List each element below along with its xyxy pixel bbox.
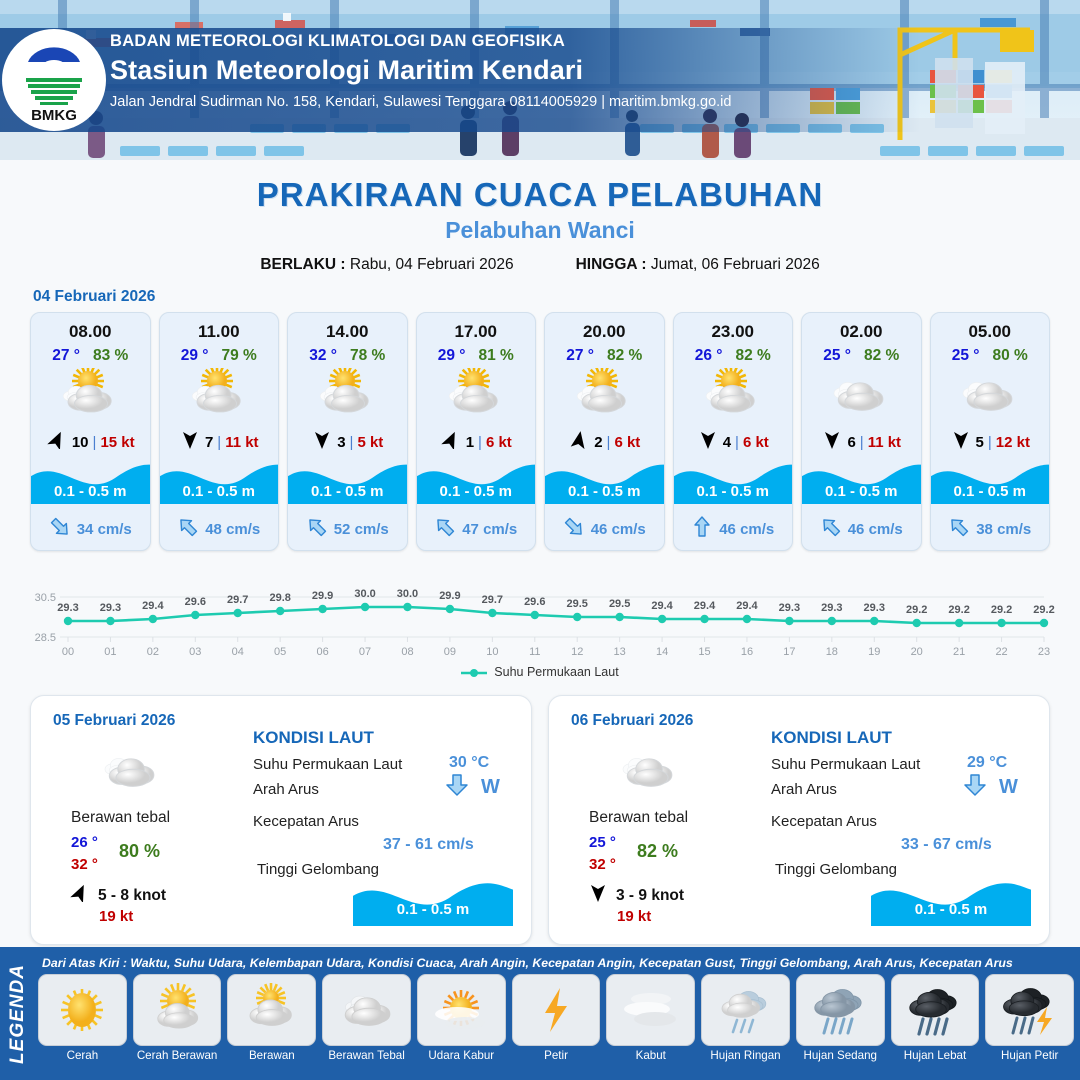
- daily-weather-icon: [611, 744, 689, 805]
- current-direction-value: W: [999, 776, 1018, 799]
- legend-side-tab: LEGENDA: [0, 947, 36, 1080]
- hourly-card: 08.00 27 ° 83 % 10 | 15 kt 0.1 - 0.5 m: [30, 312, 151, 551]
- card-weather-icon: [931, 367, 1050, 425]
- valid-until-value: Jumat, 06 Februari 2026: [651, 256, 820, 273]
- svg-text:10: 10: [486, 646, 498, 658]
- svg-text:29.6: 29.6: [524, 596, 545, 608]
- wind-direction-arrow-icon: [69, 884, 91, 907]
- hourly-card: 02.00 25 ° 82 % 6 | 11 kt 0.1 - 0.5 m: [801, 312, 922, 551]
- moderate-rain-icon: [796, 974, 885, 1046]
- svg-text:29.4: 29.4: [694, 600, 716, 612]
- svg-text:02: 02: [147, 646, 159, 658]
- bmkg-logo: BMKG: [2, 29, 106, 131]
- cloud-icon: [322, 974, 411, 1046]
- legend-item-label: Petir: [512, 1049, 601, 1062]
- current-direction-value: W: [481, 776, 500, 799]
- card-wind-direction: 10: [72, 434, 89, 451]
- current-direction-label: Arah Arus: [771, 781, 837, 798]
- daily-wave-height: 0.1 - 0.5 m: [871, 874, 1031, 926]
- daily-temp-min: 26 °: [71, 834, 98, 851]
- card-weather-icon: [160, 367, 279, 425]
- current-speed-value: 37 - 61 cm/s: [383, 836, 474, 854]
- card-wind-speed: 11 kt: [225, 434, 258, 451]
- card-current-speed: 38 cm/s: [976, 521, 1031, 538]
- wind-direction-arrow-icon: [568, 431, 590, 453]
- legend-item: Hujan Sedang: [796, 974, 885, 1062]
- svg-text:29.2: 29.2: [948, 604, 969, 616]
- svg-text:08: 08: [401, 646, 413, 658]
- sun-cloud-icon: [133, 974, 222, 1046]
- daily-humidity: 82 %: [637, 841, 678, 862]
- daily-condition: Berawan tebal: [71, 809, 170, 827]
- svg-text:29.3: 29.3: [779, 602, 800, 614]
- svg-text:04: 04: [232, 646, 244, 658]
- card-weather-icon: [802, 367, 921, 425]
- card-time: 11.00: [160, 313, 279, 342]
- legend-item-label: Udara Kabur: [417, 1049, 506, 1062]
- svg-text:14: 14: [656, 646, 668, 658]
- svg-text:00: 00: [62, 646, 74, 658]
- legend-item: Kabut: [606, 974, 695, 1062]
- card-temperature: 29 °: [181, 347, 209, 365]
- daily-forecast-card: 06 Februari 2026 Berawan tebal 25 ° 32 °…: [548, 695, 1050, 945]
- legend-item-label: Cerah: [38, 1049, 127, 1062]
- svg-text:28.5: 28.5: [35, 632, 56, 644]
- svg-text:29.2: 29.2: [1033, 604, 1054, 616]
- svg-text:19: 19: [868, 646, 880, 658]
- daily-gust: 19 kt: [99, 908, 133, 925]
- card-wind-speed: 5 kt: [357, 434, 383, 451]
- card-humidity: 82 %: [607, 347, 642, 365]
- current-direction-arrow-icon: [306, 516, 328, 542]
- svg-text:03: 03: [189, 646, 201, 658]
- fog-icon: [606, 974, 695, 1046]
- hourly-card: 14.00 32 ° 78 % 3 | 5 kt 0.1 - 0.5 m: [287, 312, 408, 551]
- svg-text:05: 05: [274, 646, 286, 658]
- daily-humidity: 80 %: [119, 841, 160, 862]
- legend-item: Cerah: [38, 974, 127, 1062]
- svg-text:29.2: 29.2: [906, 604, 927, 616]
- daily-forecast-row: 05 Februari 2026 Berawan tebal 26 ° 32 °…: [0, 685, 1080, 945]
- card-wave-height: 0.1 - 0.5 m: [802, 483, 921, 504]
- svg-text:29.4: 29.4: [651, 600, 673, 612]
- legend-item: Berawan Tebal: [322, 974, 411, 1062]
- card-wind-speed: 12 kt: [996, 434, 1030, 451]
- card-time: 14.00: [288, 313, 407, 342]
- current-speed-value: 33 - 67 cm/s: [901, 836, 992, 854]
- card-wind-direction: 7: [205, 434, 213, 451]
- current-direction-arrow-icon: [820, 516, 842, 542]
- legend-items: Cerah Cerah Berawan Berawan: [38, 974, 1074, 1062]
- svg-text:29.5: 29.5: [609, 598, 630, 610]
- legend-item-label: Hujan Petir: [985, 1049, 1074, 1062]
- card-temperature: 25 °: [823, 347, 851, 365]
- svg-text:09: 09: [444, 646, 456, 658]
- hourly-date-label: 04 Februari 2026: [33, 288, 1080, 306]
- cloud-sun-small-icon: [227, 974, 316, 1046]
- card-weather-icon: [545, 367, 664, 425]
- wind-direction-arrow-icon: [950, 431, 972, 453]
- legend-item-label: Berawan: [227, 1049, 316, 1062]
- valid-from-label: BERLAKU :: [260, 256, 345, 273]
- legend-item-label: Hujan Sedang: [796, 1049, 885, 1062]
- wind-direction-arrow-icon: [311, 431, 333, 453]
- current-direction-arrow-icon: [959, 774, 991, 801]
- chart-legend-label: Suhu Permukaan Laut: [494, 665, 618, 679]
- card-temperature: 26 °: [695, 347, 723, 365]
- daily-wind: 5 - 8 knot: [69, 884, 166, 907]
- svg-text:29.4: 29.4: [736, 600, 758, 612]
- svg-text:29.9: 29.9: [439, 590, 460, 602]
- svg-text:29.6: 29.6: [185, 596, 206, 608]
- current-direction-arrow-icon: [441, 774, 473, 801]
- daily-weather-icon: [93, 744, 171, 805]
- wind-separator: |: [607, 434, 611, 451]
- current-direction-arrow-icon: [691, 516, 713, 542]
- hourly-card: 20.00 27 ° 82 % 2 | 6 kt 0.1 - 0.5 m: [544, 312, 665, 551]
- wind-direction-arrow-icon: [587, 884, 609, 907]
- card-time: 17.00: [417, 313, 536, 342]
- legend-item: Hujan Lebat: [891, 974, 980, 1062]
- card-time: 05.00: [931, 313, 1050, 342]
- daily-wave-height: 0.1 - 0.5 m: [353, 874, 513, 926]
- card-time: 02.00: [802, 313, 921, 342]
- sea-conditions-header: KONDISI LAUT: [253, 728, 374, 748]
- legend-item-label: Kabut: [606, 1049, 695, 1062]
- legend-item-label: Berawan Tebal: [322, 1049, 411, 1062]
- card-humidity: 80 %: [992, 347, 1027, 365]
- card-current-speed: 48 cm/s: [205, 521, 260, 538]
- daily-temp-min: 25 °: [589, 834, 616, 851]
- daily-date: 05 Februari 2026: [53, 712, 175, 730]
- svg-text:BMKG: BMKG: [31, 107, 77, 124]
- legend-item: Hujan Ringan: [701, 974, 790, 1062]
- card-current-speed: 46 cm/s: [719, 521, 774, 538]
- svg-text:29.9: 29.9: [312, 590, 333, 602]
- current-direction-value-group: W: [959, 774, 1018, 801]
- card-time: 23.00: [674, 313, 793, 342]
- legend-item-label: Hujan Lebat: [891, 1049, 980, 1062]
- agency-name: BADAN METEOROLOGI KLIMATOLOGI DAN GEOFIS…: [110, 32, 731, 51]
- valid-until-label: HINGGA :: [576, 256, 647, 273]
- svg-text:17: 17: [783, 646, 795, 658]
- wind-separator: |: [735, 434, 739, 451]
- daily-wind: 3 - 9 knot: [587, 884, 684, 907]
- current-direction-arrow-icon: [948, 516, 970, 542]
- hourly-card: 23.00 26 ° 82 % 4 | 6 kt 0.1 - 0.5 m: [673, 312, 794, 551]
- card-temperature: 27 °: [52, 347, 80, 365]
- card-wind-direction: 6: [847, 434, 855, 451]
- card-humidity: 79 %: [221, 347, 256, 365]
- svg-text:29.3: 29.3: [100, 602, 121, 614]
- svg-text:22: 22: [995, 646, 1007, 658]
- wind-separator: |: [860, 434, 864, 451]
- sst-chart: 30.528.500010203040506070809101112131415…: [0, 567, 1080, 685]
- light-rain-icon: [701, 974, 790, 1046]
- legend-note: Dari Atas Kiri : Waktu, Suhu Udara, Kele…: [38, 951, 1074, 974]
- daily-temp-max: 32 °: [589, 856, 616, 873]
- wind-separator: |: [478, 434, 482, 451]
- svg-text:15: 15: [698, 646, 710, 658]
- current-direction-arrow-icon: [563, 516, 585, 542]
- daily-wind-speed: 3 - 9 knot: [616, 887, 684, 905]
- heavy-rain-icon: [891, 974, 980, 1046]
- chart-legend-marker: [461, 667, 487, 677]
- card-weather-icon: [31, 367, 150, 425]
- svg-text:30.5: 30.5: [35, 592, 56, 604]
- card-wind-speed: 6 kt: [743, 434, 769, 451]
- svg-text:29.3: 29.3: [864, 602, 885, 614]
- card-wind-direction: 3: [337, 434, 345, 451]
- card-wind-speed: 6 kt: [614, 434, 640, 451]
- card-temperature: 27 °: [566, 347, 594, 365]
- svg-text:06: 06: [316, 646, 328, 658]
- card-humidity: 83 %: [93, 347, 128, 365]
- station-address: Jalan Jendral Sudirman No. 158, Kendari,…: [110, 94, 731, 110]
- daily-temp-max: 32 °: [71, 856, 98, 873]
- svg-text:29.5: 29.5: [567, 598, 588, 610]
- valid-from-value: Rabu, 04 Februari 2026: [350, 256, 514, 273]
- card-current-speed: 46 cm/s: [848, 521, 903, 538]
- card-current-speed: 47 cm/s: [462, 521, 517, 538]
- legend-item: Udara Kabur: [417, 974, 506, 1062]
- svg-text:29.4: 29.4: [142, 600, 164, 612]
- daily-date: 06 Februari 2026: [571, 712, 693, 730]
- svg-text:29.3: 29.3: [821, 602, 842, 614]
- card-humidity: 82 %: [735, 347, 770, 365]
- wind-direction-arrow-icon: [821, 431, 843, 453]
- svg-text:23: 23: [1038, 646, 1050, 658]
- lightning-icon: [512, 974, 601, 1046]
- daily-wind-speed: 5 - 8 knot: [98, 887, 166, 905]
- hourly-card: 11.00 29 ° 79 % 7 | 11 kt 0.1 - 0.5 m: [159, 312, 280, 551]
- wind-direction-arrow-icon: [179, 431, 201, 453]
- current-speed-label: Kecepatan Arus: [253, 813, 359, 830]
- daily-condition: Berawan tebal: [589, 809, 688, 827]
- card-current-speed: 46 cm/s: [591, 521, 646, 538]
- card-wave-height: 0.1 - 0.5 m: [545, 483, 664, 504]
- legend-item: Berawan: [227, 974, 316, 1062]
- sst-label: Suhu Permukaan Laut: [253, 756, 402, 773]
- svg-text:07: 07: [359, 646, 371, 658]
- legend-item-label: Cerah Berawan: [133, 1049, 222, 1062]
- legend-item-label: Hujan Ringan: [701, 1049, 790, 1062]
- wind-separator: |: [217, 434, 221, 451]
- hourly-forecast-list: 08.00 27 ° 83 % 10 | 15 kt 0.1 - 0.5 m: [0, 312, 1080, 551]
- sst-value: 29 °C: [967, 754, 1007, 772]
- wind-direction-arrow-icon: [697, 431, 719, 453]
- card-temperature: 25 °: [952, 347, 980, 365]
- validity-row: BERLAKU : Rabu, 04 Februari 2026 HINGGA …: [0, 256, 1080, 274]
- wind-separator: |: [93, 434, 97, 451]
- svg-text:12: 12: [571, 646, 583, 658]
- card-weather-icon: [417, 367, 536, 425]
- svg-text:29.3: 29.3: [57, 602, 78, 614]
- current-speed-label: Kecepatan Arus: [771, 813, 877, 830]
- card-wind-speed: 15 kt: [100, 434, 134, 451]
- legend-section: LEGENDA Dari Atas Kiri : Waktu, Suhu Uda…: [0, 947, 1080, 1080]
- valid-until: HINGGA : Jumat, 06 Februari 2026: [576, 256, 820, 274]
- wind-separator: |: [350, 434, 354, 451]
- thunderstorm-icon: [985, 974, 1074, 1046]
- svg-text:29.2: 29.2: [991, 604, 1012, 616]
- current-direction-value-group: W: [441, 774, 500, 801]
- card-temperature: 32 °: [309, 347, 337, 365]
- legend-item: Hujan Petir: [985, 974, 1074, 1062]
- hourly-card: 05.00 25 ° 80 % 5 | 12 kt 0.1 - 0.5 m: [930, 312, 1051, 551]
- haze-icon: [417, 974, 506, 1046]
- card-wind-direction: 1: [466, 434, 474, 451]
- page-subtitle: Pelabuhan Wanci: [0, 217, 1080, 244]
- sst-label: Suhu Permukaan Laut: [771, 756, 920, 773]
- legend-side-label: LEGENDA: [7, 964, 29, 1064]
- card-humidity: 81 %: [478, 347, 513, 365]
- card-wave-height: 0.1 - 0.5 m: [31, 483, 150, 504]
- card-wave-height: 0.1 - 0.5 m: [160, 483, 279, 504]
- current-direction-arrow-icon: [434, 516, 456, 542]
- station-name: Stasiun Meteorologi Maritim Kendari: [110, 55, 731, 86]
- sea-conditions-header: KONDISI LAUT: [771, 728, 892, 748]
- svg-text:30.0: 30.0: [354, 588, 375, 600]
- svg-text:29.7: 29.7: [227, 594, 248, 606]
- card-wind-direction: 5: [976, 434, 984, 451]
- svg-text:11: 11: [529, 646, 540, 658]
- card-wind-direction: 2: [594, 434, 602, 451]
- card-time: 20.00: [545, 313, 664, 342]
- card-weather-icon: [288, 367, 407, 425]
- chart-legend: Suhu Permukaan Laut: [22, 665, 1058, 679]
- svg-text:21: 21: [953, 646, 965, 658]
- wind-direction-arrow-icon: [440, 431, 462, 453]
- card-temperature: 29 °: [438, 347, 466, 365]
- card-wave-height: 0.1 - 0.5 m: [417, 483, 536, 504]
- card-wind-speed: 6 kt: [486, 434, 512, 451]
- sst-value: 30 °C: [449, 754, 489, 772]
- card-weather-icon: [674, 367, 793, 425]
- card-wave-height: 0.1 - 0.5 m: [674, 483, 793, 504]
- card-current-speed: 52 cm/s: [334, 521, 389, 538]
- svg-text:29.7: 29.7: [482, 594, 503, 606]
- legend-item: Cerah Berawan: [133, 974, 222, 1062]
- sun-icon: [38, 974, 127, 1046]
- svg-text:29.8: 29.8: [269, 592, 290, 604]
- page-title: PRAKIRAAN CUACA PELABUHAN: [0, 176, 1080, 214]
- page-header: BMKG BADAN METEOROLOGI KLIMATOLOGI DAN G…: [0, 0, 1080, 160]
- card-time: 08.00: [31, 313, 150, 342]
- daily-gust: 19 kt: [617, 908, 651, 925]
- svg-text:13: 13: [614, 646, 626, 658]
- current-direction-arrow-icon: [177, 516, 199, 542]
- valid-from: BERLAKU : Rabu, 04 Februari 2026: [260, 256, 513, 274]
- svg-text:01: 01: [104, 646, 116, 658]
- svg-text:18: 18: [826, 646, 838, 658]
- wind-direction-arrow-icon: [46, 431, 68, 453]
- card-humidity: 82 %: [864, 347, 899, 365]
- legend-item: Petir: [512, 974, 601, 1062]
- wind-separator: |: [988, 434, 992, 451]
- card-current-speed: 34 cm/s: [77, 521, 132, 538]
- current-direction-label: Arah Arus: [253, 781, 319, 798]
- card-wind-direction: 4: [723, 434, 731, 451]
- svg-text:20: 20: [911, 646, 923, 658]
- daily-forecast-card: 05 Februari 2026 Berawan tebal 26 ° 32 °…: [30, 695, 532, 945]
- svg-text:16: 16: [741, 646, 753, 658]
- svg-text:30.0: 30.0: [397, 588, 418, 600]
- card-wave-height: 0.1 - 0.5 m: [931, 483, 1050, 504]
- card-humidity: 78 %: [350, 347, 385, 365]
- card-wind-speed: 11 kt: [868, 434, 901, 451]
- current-direction-arrow-icon: [49, 516, 71, 542]
- card-wave-height: 0.1 - 0.5 m: [288, 483, 407, 504]
- hourly-card: 17.00 29 ° 81 % 1 | 6 kt 0.1 - 0.5 m: [416, 312, 537, 551]
